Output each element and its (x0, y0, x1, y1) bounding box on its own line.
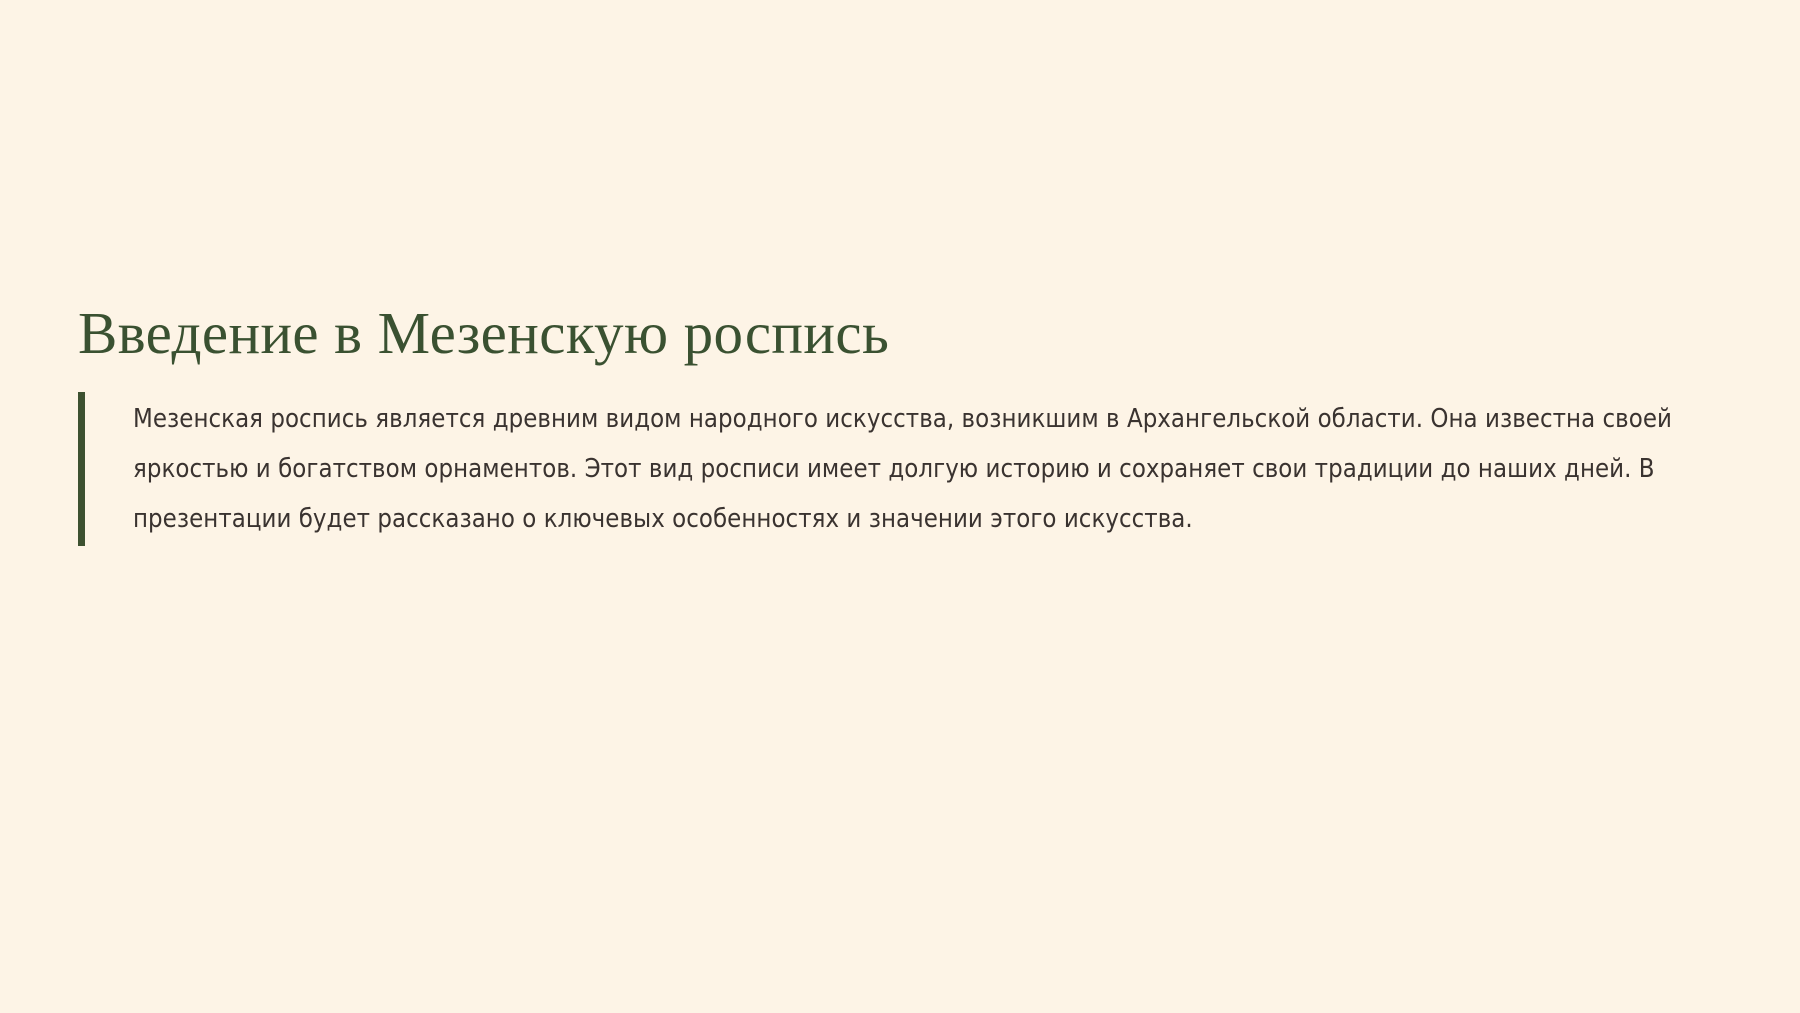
slide-content-block: Введение в Мезенскую роспись Мезенская р… (78, 300, 1738, 546)
presentation-slide: Введение в Мезенскую роспись Мезенская р… (0, 0, 1800, 1013)
left-accent-bar (78, 392, 85, 546)
body-paragraph: Мезенская роспись является древним видом… (85, 392, 1737, 546)
body-quote-block: Мезенская роспись является древним видом… (78, 392, 1738, 546)
page-title: Введение в Мезенскую роспись (78, 300, 1738, 366)
